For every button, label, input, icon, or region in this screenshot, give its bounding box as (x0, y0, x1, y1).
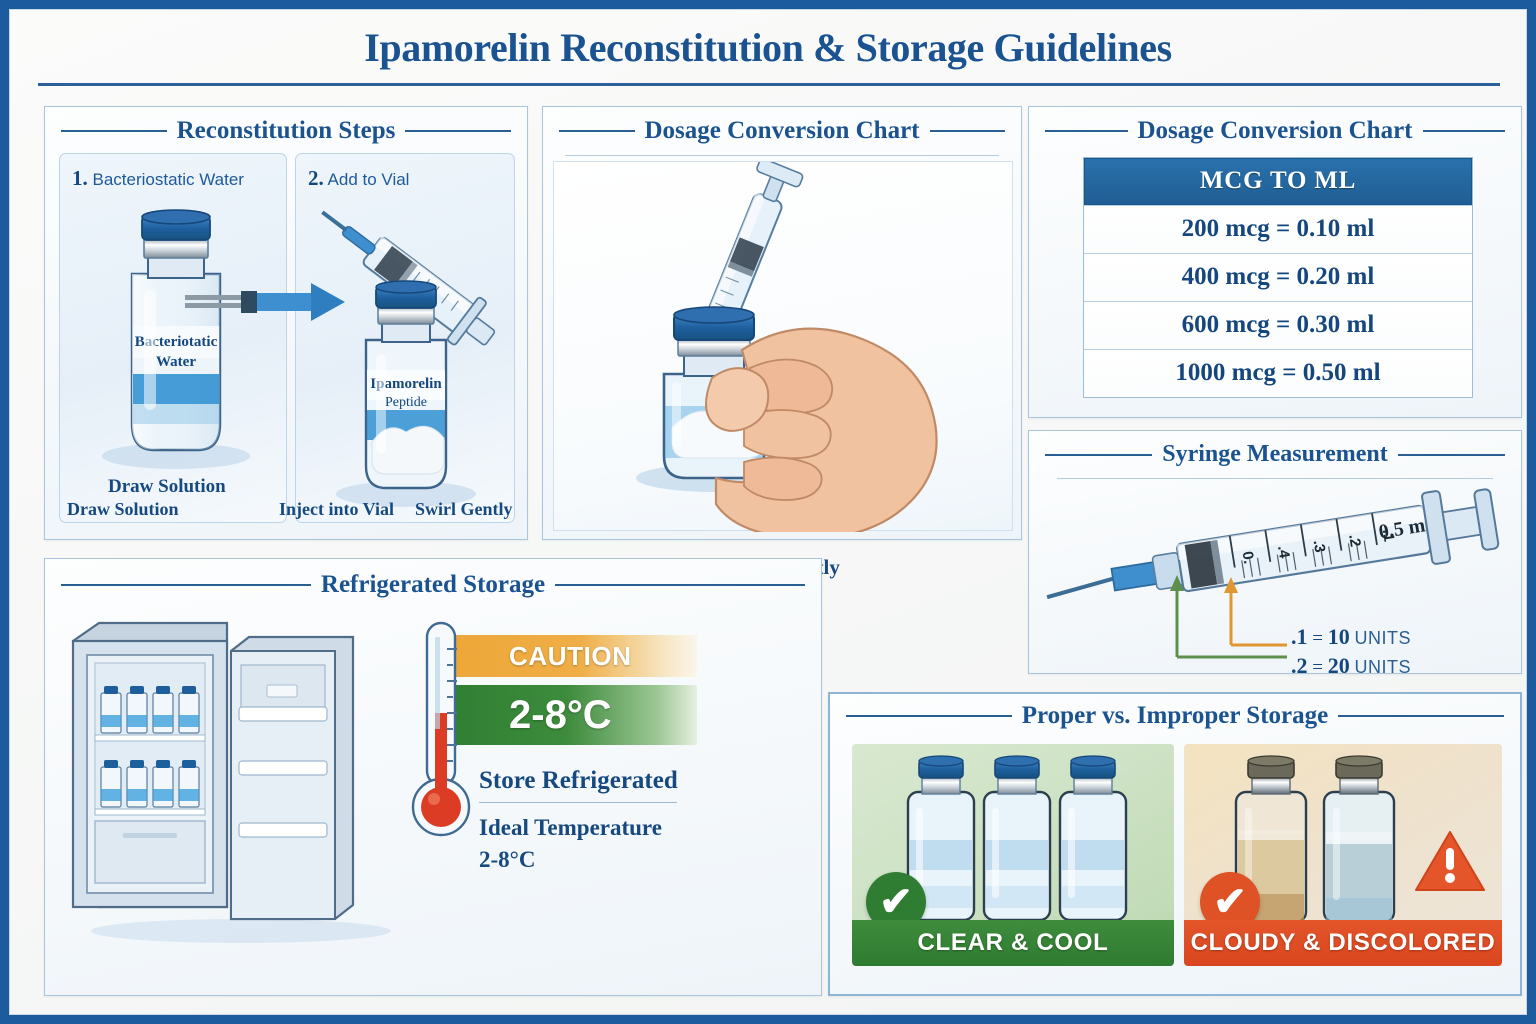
note-divider (479, 802, 677, 803)
panel-heading-syringe: Syringe Measurement (1029, 441, 1521, 468)
heading-text: Reconstitution Steps (177, 117, 396, 145)
step-card-1: 1. Bacteriostatic Water Bacteriotatic Wa… (59, 153, 287, 523)
svg-text:.3: .3 (1310, 539, 1329, 554)
step-card-2: 2. Add to Vial (295, 153, 515, 523)
svg-text:0.: 0. (1239, 550, 1258, 565)
panel-dosage-conversion-illustration: Dosage Conversion Chart (542, 106, 1022, 540)
step-1-title: Bacteriostatic Water (92, 170, 243, 189)
step-1-caption: Draw Solution (108, 476, 226, 498)
heading-text: Syringe Measurement (1162, 441, 1388, 468)
panel-reconstitution-steps: Reconstitution Steps 1. Bacteriostatic W… (44, 106, 528, 540)
note-store-refrigerated: Store Refrigerated (479, 767, 678, 795)
strip-label-improper: CLOUDY & DISCOLORED (1184, 920, 1502, 966)
caption-inject-into-vial: Inject into Vial (279, 499, 394, 520)
panel-heading-refrigerated: Refrigerated Storage (45, 571, 821, 599)
note-ideal-temperature-label: Ideal Temperature (479, 815, 662, 841)
heading-rule-left (61, 130, 167, 132)
annotation-units-10: .1 = 10 UNITS (1291, 624, 1411, 650)
annotation-units-20: .2 = 20 UNITS (1291, 653, 1411, 679)
annotation-unit-2: UNITS (1354, 657, 1411, 677)
heading-rule-left (559, 130, 635, 132)
caution-bar-text: CAUTION (509, 641, 632, 672)
panel-heading-center: Dosage Conversion Chart (543, 117, 1021, 145)
bacteriostatic-water-vial-illustration: Bacteriotatic Water (60, 198, 288, 488)
comparison-card-proper: ✔ CLEAR & COOL (852, 744, 1174, 966)
dosage-conversion-table: MCG TO ML 200 mcg = 0.10 ml 400 mcg = 0.… (1083, 157, 1473, 398)
annotation-equals-1: = (1312, 628, 1323, 649)
table-column-header: MCG TO ML (1084, 158, 1472, 205)
heading-underline (565, 155, 999, 156)
page-title: Ipamorelin Reconstitution & Storage Guid… (10, 24, 1526, 71)
panel-dosage-table: Dosage Conversion Chart MCG TO ML 200 mc… (1028, 106, 1522, 418)
thermometer-icon (403, 617, 479, 857)
annotation-equals-2: = (1312, 657, 1323, 678)
add-to-vial-illustration: Ipamorelin Peptide (296, 194, 516, 524)
heading-rule-right (555, 584, 805, 586)
panel-heading-dosage-table: Dosage Conversion Chart (1029, 117, 1521, 145)
center-illustration-frame: Swirl Gently (553, 161, 1013, 531)
step-2-label: 2. Add to Vial (308, 166, 508, 191)
note-ideal-temperature-value: 2-8°C (479, 847, 535, 873)
title-divider (38, 83, 1500, 86)
annotation-amount-2: 20 (1328, 653, 1350, 678)
caption-draw-solution: Draw Solution (67, 499, 179, 520)
table-row: 400 mcg = 0.20 ml (1084, 253, 1472, 301)
step-2-title: Add to Vial (328, 170, 410, 189)
annotation-amount-1: 10 (1328, 624, 1350, 649)
hand-holding-vial-illustration (554, 162, 1014, 532)
step-2-number: 2. (308, 166, 324, 190)
strip-label-proper: CLEAR & COOL (852, 920, 1174, 966)
heading-rule-right (930, 130, 1006, 132)
caption-swirl-gently: Swirl Gently (415, 499, 513, 520)
paper-surface: Ipamorelin Reconstitution & Storage Guid… (9, 9, 1527, 1015)
panel-heading-comparison: Proper vs. Improper Storage (830, 702, 1520, 730)
panel-refrigerated-storage: Refrigerated Storage (44, 558, 822, 996)
heading-text: Dosage Conversion Chart (1138, 117, 1413, 145)
heading-rule-left (1045, 130, 1128, 132)
infographic-root: Ipamorelin Reconstitution & Storage Guid… (0, 0, 1536, 1024)
temperature-bar-text: 2-8°C (509, 693, 612, 738)
heading-rule-right (405, 130, 511, 132)
heading-rule-right (1398, 454, 1505, 456)
panel-storage-comparison: Proper vs. Improper Storage (828, 692, 1522, 996)
heading-text: Proper vs. Improper Storage (1022, 702, 1328, 730)
step-1-label: 1. Bacteriostatic Water (72, 166, 280, 191)
heading-rule-right (1338, 715, 1504, 717)
table-row: 1000 mcg = 0.50 ml (1084, 349, 1472, 397)
annotation-unit-1: UNITS (1354, 628, 1411, 648)
annotation-value-1: .1 (1291, 624, 1308, 649)
svg-text:.2: .2 (1345, 533, 1364, 548)
refrigerator-illustration (61, 611, 421, 951)
panel-heading-reconstitution: Reconstitution Steps (45, 117, 527, 145)
warning-triangle-icon (1416, 832, 1484, 890)
table-row: 200 mcg = 0.10 ml (1084, 205, 1472, 253)
heading-rule-left (1045, 454, 1152, 456)
svg-text:Peptide: Peptide (385, 395, 427, 410)
heading-text: Dosage Conversion Chart (645, 117, 920, 145)
panel-syringe-measurement: Syringe Measurement (1028, 430, 1522, 674)
annotation-value-2: .2 (1291, 653, 1308, 678)
heading-underline (1057, 478, 1493, 479)
comparison-card-improper: ✔ CLOUDY & DISCOLORED (1184, 744, 1502, 966)
heading-text: Refrigerated Storage (321, 571, 545, 599)
heading-rule-right (1423, 130, 1506, 132)
table-row: 600 mcg = 0.30 ml (1084, 301, 1472, 349)
svg-text:Water: Water (156, 354, 196, 370)
heading-rule-left (61, 584, 311, 586)
transfer-arrow-icon (185, 269, 385, 329)
step-1-number: 1. (72, 166, 88, 190)
heading-rule-left (846, 715, 1012, 717)
